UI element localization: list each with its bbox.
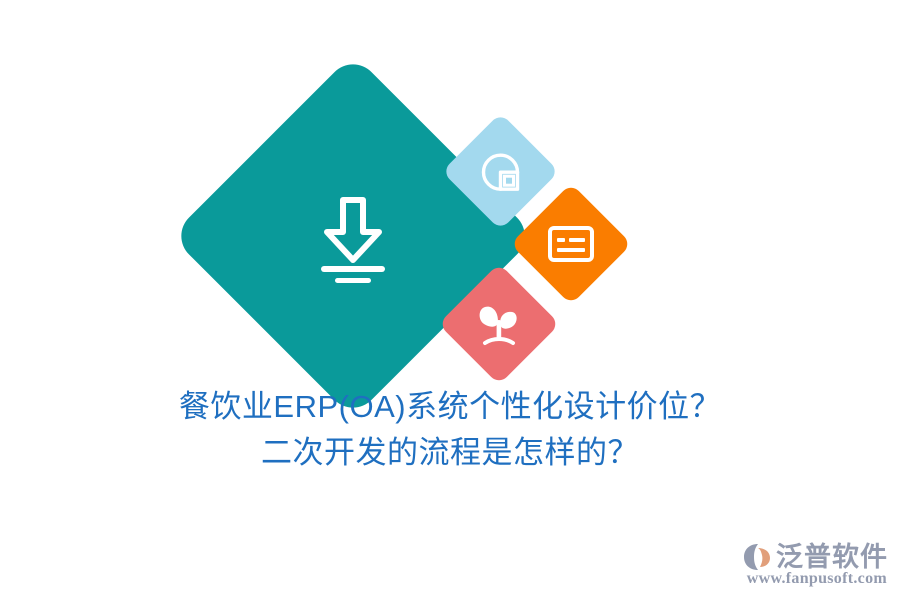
pie-chart-icon bbox=[480, 151, 522, 193]
watermark-url: www.fanpusoft.com bbox=[747, 570, 887, 588]
headline: 餐饮业ERP(OA)系统个性化设计价位？ 二次开发的流程是怎样的？ bbox=[0, 384, 900, 476]
headline-line-1: 餐饮业ERP(OA)系统个性化设计价位？ bbox=[0, 384, 900, 430]
watermark: 泛普软件 www.fanpusoft.com bbox=[742, 542, 888, 588]
download-install-icon bbox=[305, 188, 401, 284]
image-canvas: 餐饮业ERP(OA)系统个性化设计价位？ 二次开发的流程是怎样的？ 泛普软件 w… bbox=[0, 0, 900, 600]
sprout-plant-icon bbox=[475, 301, 523, 347]
diamond-icon-cluster bbox=[0, 0, 900, 400]
fanpu-logo-icon bbox=[742, 542, 772, 572]
card-form-icon bbox=[547, 225, 595, 263]
watermark-brand-row: 泛普软件 bbox=[742, 542, 888, 572]
watermark-brand-name: 泛普软件 bbox=[776, 542, 888, 572]
headline-line-2: 二次开发的流程是怎样的？ bbox=[0, 430, 900, 476]
